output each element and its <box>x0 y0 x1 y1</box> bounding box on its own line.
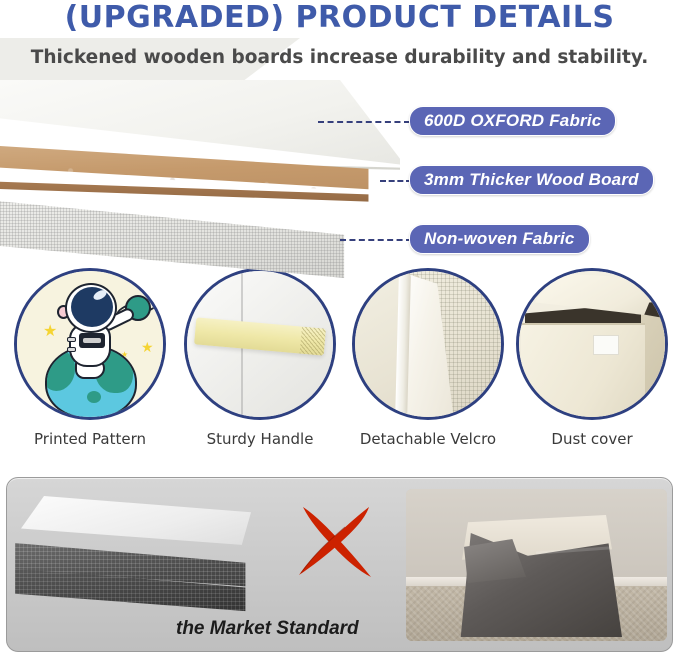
label-pill-wood[interactable]: 3mm Thicker Wood Board <box>409 165 654 195</box>
cross-icon <box>293 501 379 581</box>
page-title: (UPGRADED) PRODUCT DETAILS <box>0 1 679 35</box>
feature-printed-pattern[interactable]: Printed Pattern <box>10 268 170 448</box>
box-side-panel <box>641 314 668 420</box>
astronaut-suit-stripe <box>67 347 76 352</box>
feature-sturdy-handle[interactable]: Sturdy Handle <box>180 268 340 448</box>
astronaut-suit-stripe <box>67 337 76 342</box>
collapsed-bin-photo <box>406 489 667 641</box>
layer-nonwoven-texture <box>0 198 370 278</box>
feature-dust-cover[interactable]: Dust cover <box>512 268 672 448</box>
feature-image-detachable-velcro <box>352 268 504 420</box>
feature-image-printed-pattern <box>14 268 166 420</box>
box-label-tag <box>593 335 619 355</box>
connector-line-nonwoven <box>340 239 412 241</box>
feature-caption-printed-pattern: Printed Pattern <box>10 430 170 448</box>
feature-image-dust-cover <box>516 268 668 420</box>
feature-caption-sturdy-handle: Sturdy Handle <box>180 430 340 448</box>
box-front-panel <box>521 323 645 420</box>
feature-caption-detachable-velcro: Detachable Velcro <box>348 430 508 448</box>
astronaut-chest-panel <box>79 333 105 348</box>
product-details-infographic: (UPGRADED) PRODUCT DETAILS Thickened woo… <box>0 0 679 658</box>
layer-stack-diagram <box>0 80 420 262</box>
market-standard-caption: the Market Standard <box>176 618 359 640</box>
connector-line-oxford <box>318 121 410 123</box>
feature-caption-dust-cover: Dust cover <box>512 430 672 448</box>
earth-landmass <box>87 391 101 403</box>
feature-detachable-velcro[interactable]: Detachable Velcro <box>348 268 508 448</box>
label-pill-oxford[interactable]: 600D OXFORD Fabric <box>409 106 616 136</box>
connector-line-wood <box>380 180 412 182</box>
feature-circles-row: Printed Pattern Sturdy Handle Detachable… <box>0 268 679 463</box>
label-pill-nonwoven[interactable]: Non-woven Fabric <box>409 224 590 254</box>
feature-image-sturdy-handle <box>184 268 336 420</box>
page-subtitle: Thickened wooden boards increase durabil… <box>0 44 679 72</box>
